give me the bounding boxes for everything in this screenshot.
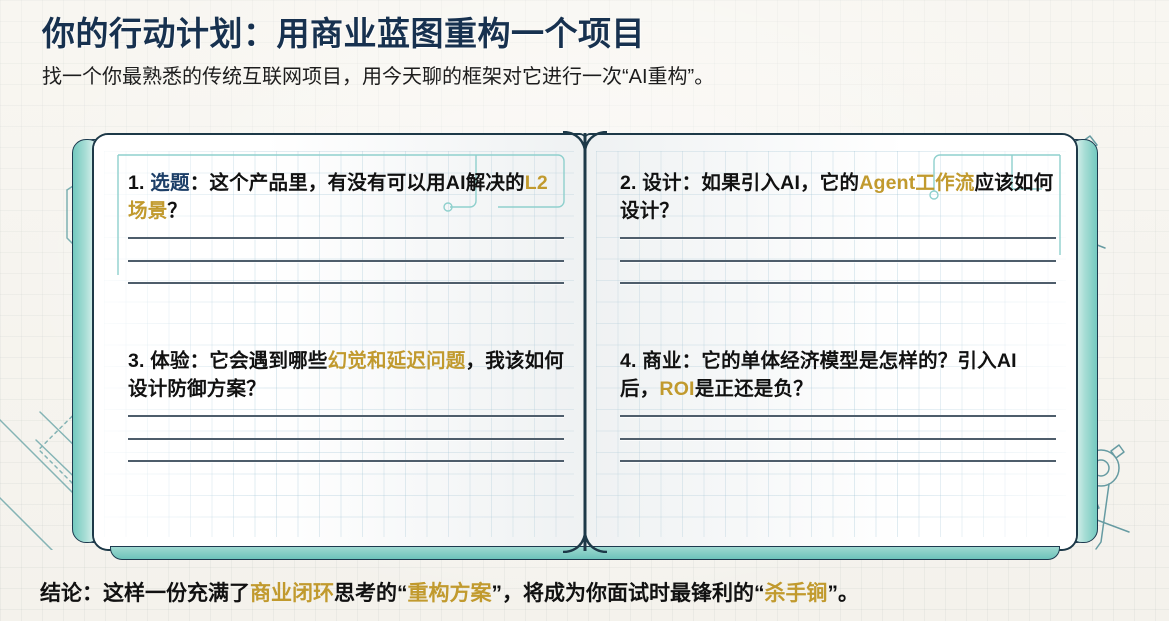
notebook-spread: 1. 选题：这个产品里，有没有可以用AI解决的L2场景？ 3. 体验：它会遇到哪… <box>72 133 1098 551</box>
footer-seg-6: ”。 <box>828 582 860 605</box>
cell-3-seg-1: 幻觉和延迟问题 <box>328 350 466 372</box>
footer-seg-0: 结论：这样一份充满了 <box>40 582 250 605</box>
slide-canvas: 你的行动计划：用商业蓝图重构一个项目 找一个你最熟悉的传统互联网项目，用今天聊的… <box>0 0 1169 621</box>
rule-line[interactable] <box>128 237 564 239</box>
cell-1-answer-lines[interactable] <box>128 237 564 284</box>
cell-3-answer-lines[interactable] <box>128 415 564 462</box>
cell-1-seg-2: ：这个产品里，有没有可以用AI解决的 <box>190 172 525 194</box>
rule-line[interactable] <box>620 260 1056 262</box>
rule-line[interactable] <box>128 438 564 440</box>
worksheet-cell-2[interactable]: 2. 设计：如果引入AI，它的Agent工作流应该如何设计？ <box>620 169 1056 284</box>
cell-1-question: 1. 选题：这个产品里，有没有可以用AI解决的L2场景？ <box>128 169 564 225</box>
spine-bottom-curve <box>562 533 608 553</box>
rule-line[interactable] <box>620 237 1056 239</box>
footer-seg-1: 商业闭环 <box>250 582 334 605</box>
cell-1-seg-0: 1. <box>128 172 150 194</box>
notebook-spine <box>584 133 587 551</box>
rule-line[interactable] <box>620 415 1056 417</box>
cell-4-answer-lines[interactable] <box>620 415 1056 462</box>
cell-1-seg-1: 选题 <box>150 172 189 194</box>
page-title: 你的行动计划：用商业蓝图重构一个项目 <box>42 14 1132 54</box>
conclusion-line: 结论：这样一份充满了商业闭环思考的“重构方案”，将成为你面试时最锋利的“杀手锏”… <box>40 580 1140 607</box>
notebook-page-right: 2. 设计：如果引入AI，它的Agent工作流应该如何设计？ 4. 商业：它的单… <box>585 133 1078 551</box>
rule-line[interactable] <box>128 282 564 284</box>
worksheet-cell-1[interactable]: 1. 选题：这个产品里，有没有可以用AI解决的L2场景？ <box>128 169 564 284</box>
cell-2-question: 2. 设计：如果引入AI，它的Agent工作流应该如何设计？ <box>620 169 1056 225</box>
rule-line[interactable] <box>620 460 1056 462</box>
rule-line[interactable] <box>128 460 564 462</box>
footer-seg-3: 重构方案 <box>408 582 492 605</box>
notebook-pages: 1. 选题：这个产品里，有没有可以用AI解决的L2场景？ 3. 体验：它会遇到哪… <box>92 133 1078 551</box>
rule-line[interactable] <box>620 282 1056 284</box>
cell-1-seg-4: ？ <box>167 200 187 222</box>
cell-3-question: 3. 体验：它会遇到哪些幻觉和延迟问题，我该如何设计防御方案？ <box>128 347 564 403</box>
cell-4-seg-2: 是正还是负？ <box>695 378 813 400</box>
rule-line[interactable] <box>620 438 1056 440</box>
worksheet-cell-3[interactable]: 3. 体验：它会遇到哪些幻觉和延迟问题，我该如何设计防御方案？ <box>128 347 564 462</box>
cell-4-seg-1: ROI <box>659 378 694 400</box>
spine-top-curve <box>562 131 608 151</box>
footer-seg-5: 杀手锏 <box>765 582 828 605</box>
cell-3-seg-0: 3. 体验：它会遇到哪些 <box>128 350 328 372</box>
rule-line[interactable] <box>128 415 564 417</box>
cell-2-seg-1: Agent工作流 <box>859 172 974 194</box>
cell-2-answer-lines[interactable] <box>620 237 1056 284</box>
cell-2-seg-0: 2. 设计：如果引入AI，它的 <box>620 172 859 194</box>
page-subtitle: 找一个你最熟悉的传统互联网项目，用今天聊的框架对它进行一次“AI重构”。 <box>42 64 1132 90</box>
cell-4-question: 4. 商业：它的单体经济模型是怎样的？引入AI后，ROI是正还是负？ <box>620 347 1056 403</box>
notebook-page-left: 1. 选题：这个产品里，有没有可以用AI解决的L2场景？ 3. 体验：它会遇到哪… <box>92 133 585 551</box>
worksheet-cell-4[interactable]: 4. 商业：它的单体经济模型是怎样的？引入AI后，ROI是正还是负？ <box>620 347 1056 462</box>
footer-seg-4: ”，将成为你面试时最锋利的“ <box>492 582 765 605</box>
rule-line[interactable] <box>128 260 564 262</box>
header: 你的行动计划：用商业蓝图重构一个项目 找一个你最熟悉的传统互联网项目，用今天聊的… <box>42 14 1132 90</box>
footer-seg-2: 思考的“ <box>334 582 408 605</box>
